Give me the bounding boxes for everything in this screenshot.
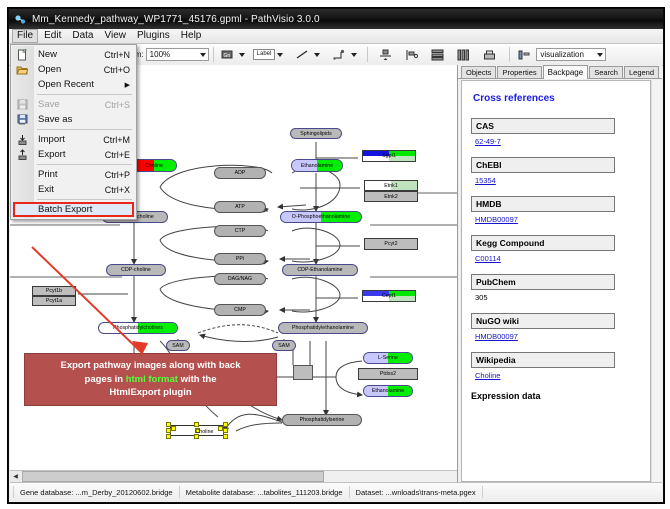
ref-source-cas: CAS [471, 118, 615, 134]
menu-item-new[interactable]: New Ctrl+N [11, 47, 136, 62]
ref-value-chebi[interactable]: 15354 [475, 176, 641, 185]
toolbar-separator [213, 47, 214, 62]
ref-value-pubchem: 305 [475, 293, 641, 302]
visualization-settings-icon[interactable] [516, 47, 531, 62]
chevron-down-icon[interactable] [351, 53, 357, 57]
save-disk-icon [11, 99, 33, 110]
status-metabolite-database: Metabolite database: ...tabolites_111203… [180, 486, 350, 498]
align-left-icon[interactable] [404, 47, 419, 62]
menu-item-open[interactable]: Open Ctrl+O [11, 62, 136, 77]
import-icon [11, 134, 33, 145]
tab-search[interactable]: Search [589, 66, 623, 78]
menu-item-print[interactable]: Print Ctrl+P [11, 167, 136, 182]
open-folder-icon [11, 64, 33, 76]
menu-item-import[interactable]: Import Ctrl+M [11, 132, 136, 147]
ref-source-nugo-wiki: NuGO wiki [471, 313, 615, 329]
line-tool-group[interactable] [293, 47, 320, 62]
visualization-combobox[interactable]: visualization [536, 48, 606, 61]
status-gene-database: Gene database: ...m_Derby_20120602.bridg… [13, 486, 180, 498]
menu-item-save: Save Ctrl+S [11, 97, 136, 112]
file-menu-dropdown[interactable]: New Ctrl+N Open Ctrl+O Open Recent ▶ Sav… [10, 44, 137, 220]
chevron-down-icon[interactable] [239, 53, 245, 57]
backpage-vertical-scrollbar[interactable] [651, 80, 661, 482]
side-panel[interactable]: Objects Properties Backpage Search Legen… [458, 65, 662, 482]
tab-properties[interactable]: Properties [497, 66, 541, 78]
align-top-icon[interactable] [378, 47, 393, 62]
menu-plugins[interactable]: Plugins [132, 29, 175, 43]
status-dataset: Dataset: ...wnloads\trans-meta.pgex [350, 486, 483, 498]
line-tool-icon[interactable] [295, 47, 310, 62]
chevron-down-icon[interactable] [314, 53, 320, 57]
ref-value-cas[interactable]: 62-49-7 [475, 137, 641, 146]
menu-divider [37, 199, 132, 200]
submenu-arrow-icon: ▶ [125, 81, 136, 89]
chevron-down-icon [200, 53, 206, 57]
ref-value-kegg-compound[interactable]: C00114 [475, 254, 641, 263]
menu-item-save-as[interactable]: Save as [11, 112, 136, 127]
ref-source-pubchem: PubChem [471, 274, 615, 290]
interaction-tool-group[interactable] [330, 47, 357, 62]
tab-backpage[interactable]: Backpage [543, 65, 589, 79]
visualization-value: visualization [540, 50, 584, 59]
ref-value-hmdb[interactable]: HMDB00097 [475, 215, 641, 224]
menu-file[interactable]: File [12, 29, 38, 43]
menu-divider [37, 129, 132, 130]
menu-data[interactable]: Data [67, 29, 98, 43]
menu-view[interactable]: View [99, 29, 131, 43]
menu-item-exit[interactable]: Exit Ctrl+X [11, 182, 136, 197]
label-tool-group[interactable]: Label [253, 49, 284, 60]
shape-tool-icon[interactable]: Gn [220, 47, 235, 62]
chevron-down-icon[interactable] [277, 53, 283, 57]
pathvisio-window: Mm_Kennedy_pathway_WP1771_45176.gpml - P… [8, 8, 664, 503]
menu-divider [37, 94, 132, 95]
new-file-icon [11, 49, 33, 61]
ref-value-wikipedia[interactable]: Choline [475, 371, 641, 380]
save-as-icon [11, 114, 33, 125]
status-bar: Gene database: ...m_Derby_20120602.bridg… [10, 482, 662, 501]
cross-references-heading: Cross references [473, 93, 641, 104]
label-tool-label[interactable]: Label [253, 49, 276, 60]
menubar[interactable]: File Edit Data View Plugins Help [9, 29, 663, 44]
ref-source-wikipedia: Wikipedia [471, 352, 615, 368]
ref-source-hmdb: HMDB [471, 196, 615, 212]
expression-data-heading: Expression data [471, 391, 641, 401]
ref-source-kegg-compound: Kegg Compound [471, 235, 615, 251]
distribute-icon[interactable] [456, 47, 471, 62]
menu-item-export[interactable]: Export Ctrl+E [11, 147, 136, 162]
menu-item-open-recent[interactable]: Open Recent ▶ [11, 77, 136, 92]
interaction-tool-icon[interactable] [332, 47, 347, 62]
window-titlebar: Mm_Kennedy_pathway_WP1771_45176.gpml - P… [9, 9, 663, 29]
shape-tool-group[interactable]: Gn [218, 47, 245, 62]
zoom-value: 100% [150, 50, 170, 59]
backpage-content: Cross references CAS 62-49-7 ChEBI 15354… [461, 80, 651, 482]
pathvisio-icon [14, 13, 27, 26]
svg-text:Gn: Gn [224, 53, 231, 59]
tab-legend[interactable]: Legend [624, 66, 659, 78]
side-panel-tabs[interactable]: Objects Properties Backpage Search Legen… [458, 65, 662, 79]
zoom-combobox[interactable]: 100% [146, 48, 209, 61]
menu-edit[interactable]: Edit [39, 29, 66, 43]
ref-source-chebi: ChEBI [471, 157, 615, 173]
ref-value-nugo-wiki[interactable]: HMDB00097 [475, 332, 641, 341]
group-icon[interactable] [482, 47, 497, 62]
menu-help[interactable]: Help [176, 29, 207, 43]
stack-vertical-icon[interactable] [430, 47, 445, 62]
menu-divider [37, 164, 132, 165]
tab-objects[interactable]: Objects [461, 66, 496, 78]
window-title: Mm_Kennedy_pathway_WP1771_45176.gpml - P… [32, 14, 320, 25]
chevron-down-icon [597, 53, 603, 57]
export-icon [11, 149, 33, 160]
